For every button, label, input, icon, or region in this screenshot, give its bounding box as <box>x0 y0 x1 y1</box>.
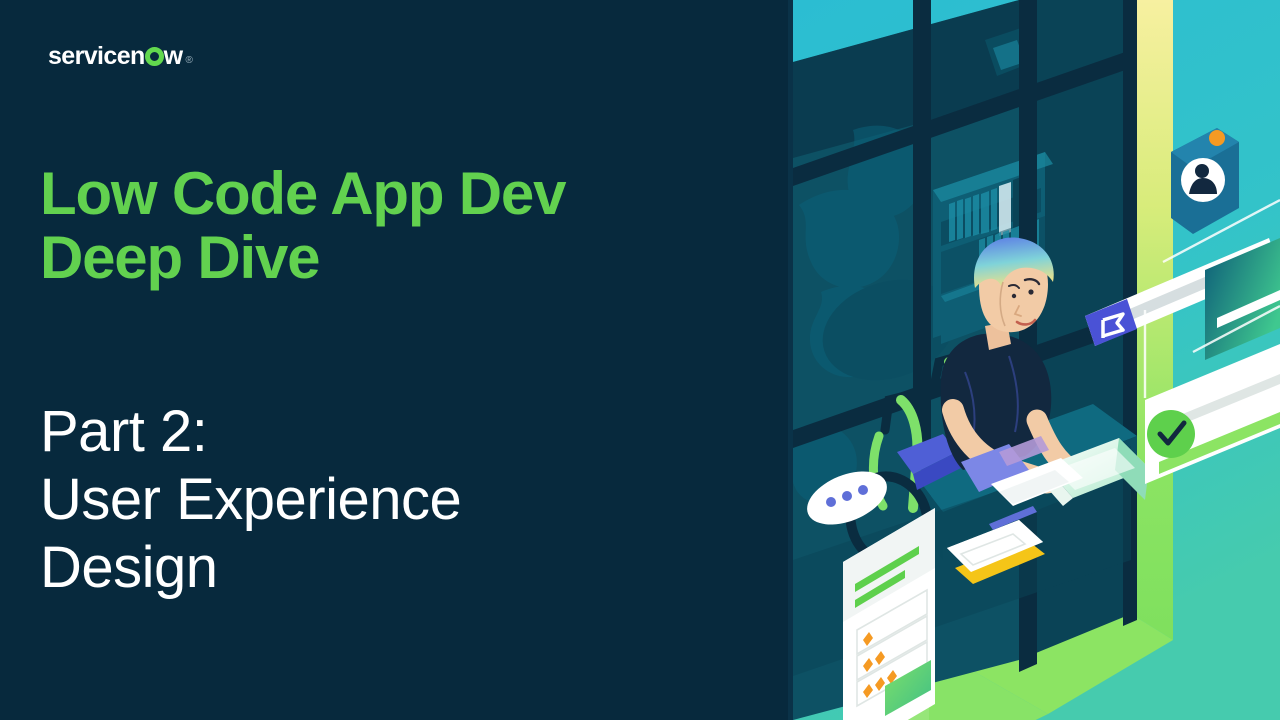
servicenow-logo: servicen w ® <box>48 44 193 69</box>
logo-trademark-icon: ® <box>186 55 193 66</box>
illustration-svg <box>793 0 1280 720</box>
left-text-panel: servicen w ® Low Code App Dev Deep Dive … <box>0 0 793 720</box>
page-subtitle-line-3: Design <box>40 534 740 602</box>
page-title-line-1: Low Code App Dev <box>40 162 760 226</box>
illustration <box>793 0 1280 720</box>
slide-root: servicen w ® Low Code App Dev Deep Dive … <box>0 0 1280 720</box>
check-circle-icon <box>1147 410 1195 458</box>
logo-text-part-1: servicen <box>48 44 145 69</box>
ellipsis-icon <box>826 497 836 507</box>
page-subtitle: Part 2: User Experience Design <box>40 398 740 602</box>
notification-badge <box>1209 130 1225 146</box>
page-title-line-2: Deep Dive <box>40 226 760 290</box>
logo-text-part-2: w <box>164 44 183 69</box>
page-subtitle-line-1: Part 2: <box>40 398 740 466</box>
page-title: Low Code App Dev Deep Dive <box>40 162 760 290</box>
servicenow-o-ring-icon <box>145 47 164 66</box>
page-subtitle-line-2: User Experience <box>40 466 740 534</box>
